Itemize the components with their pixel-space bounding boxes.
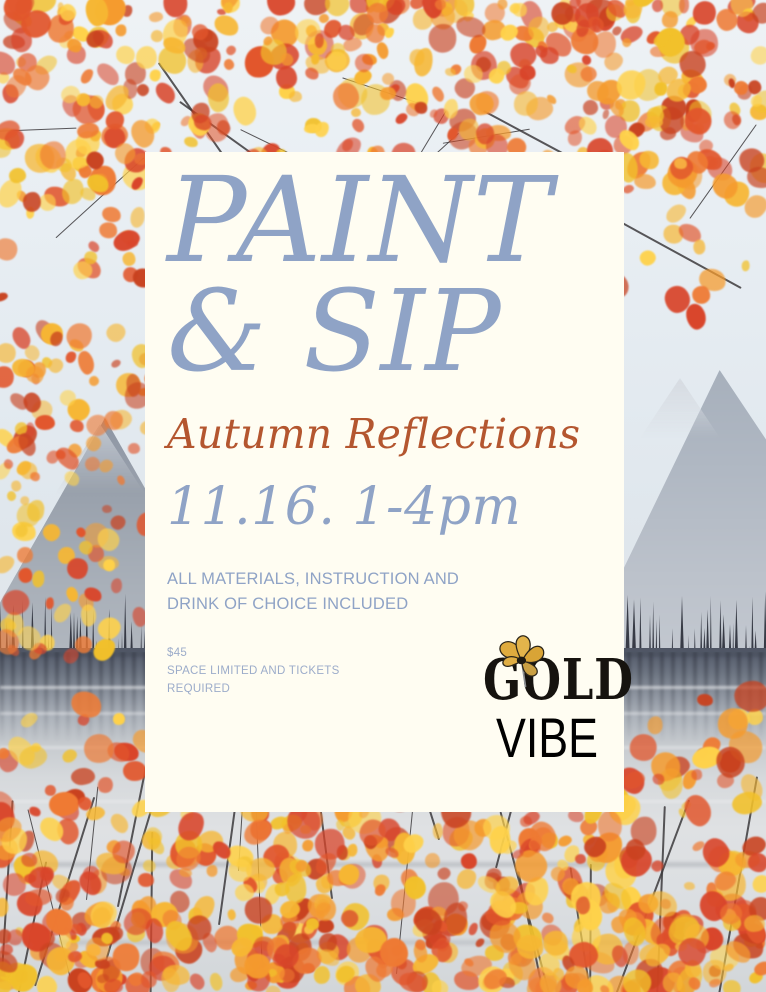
painted-leaf bbox=[205, 864, 218, 878]
headline-line-2: & SIP bbox=[167, 275, 606, 384]
painted-leaf bbox=[79, 66, 97, 85]
painted-leaf bbox=[110, 358, 123, 370]
painted-leaf bbox=[76, 349, 97, 376]
painted-leaf bbox=[696, 693, 714, 708]
painted-leaf bbox=[104, 978, 124, 992]
painted-leaf bbox=[275, 66, 297, 90]
logo-word-top-row: GOLD bbox=[467, 652, 627, 708]
painted-leaf bbox=[679, 0, 691, 14]
painted-leaf bbox=[208, 972, 224, 992]
painted-leaf bbox=[0, 235, 21, 265]
painted-leaf bbox=[453, 865, 480, 893]
painted-leaf bbox=[476, 123, 494, 144]
painted-leaf bbox=[24, 888, 53, 908]
painted-leaf bbox=[375, 41, 390, 60]
painted-leaf bbox=[84, 455, 101, 472]
painted-leaf bbox=[107, 810, 132, 836]
painted-leaf bbox=[435, 866, 452, 883]
painted-leaf bbox=[122, 251, 136, 266]
painted-leaf bbox=[141, 857, 158, 874]
painted-leaf bbox=[663, 201, 689, 226]
painted-leaf bbox=[68, 687, 107, 723]
painted-leaf bbox=[683, 881, 694, 890]
painted-leaf bbox=[81, 731, 116, 766]
painted-leaf bbox=[35, 415, 55, 431]
painted-leaf bbox=[474, 936, 487, 948]
includes-line-1: ALL MATERIALS, INSTRUCTION AND bbox=[167, 567, 606, 593]
painted-leaf bbox=[114, 24, 127, 38]
painted-leaf bbox=[97, 457, 115, 474]
painted-leaf bbox=[425, 853, 440, 868]
painted-leaf bbox=[187, 971, 207, 992]
painted-leaf bbox=[335, 819, 344, 831]
painted-leaf bbox=[88, 375, 100, 388]
painted-leaf bbox=[18, 710, 40, 730]
painted-leaf bbox=[148, 67, 162, 82]
painted-leaf bbox=[96, 776, 114, 795]
painted-leaf bbox=[68, 418, 85, 434]
painted-leaf bbox=[81, 604, 97, 626]
painted-leaf bbox=[0, 588, 31, 617]
painted-leaf bbox=[681, 791, 716, 830]
painted-leaf bbox=[41, 521, 63, 543]
painted-leaf bbox=[110, 578, 123, 595]
painted-leaf bbox=[231, 94, 259, 128]
painted-leaf bbox=[31, 570, 45, 588]
content-card: PAINT & SIP Autumn Reflections 11.16. 1-… bbox=[145, 152, 624, 812]
painted-leaf bbox=[122, 760, 147, 782]
painted-leaf bbox=[0, 552, 17, 576]
painted-leaf bbox=[127, 240, 138, 247]
painted-leaf bbox=[305, 917, 319, 930]
poster-canvas: PAINT & SIP Autumn Reflections 11.16. 1-… bbox=[0, 0, 766, 992]
painted-leaf bbox=[137, 872, 155, 888]
painted-leaf bbox=[222, 58, 235, 71]
painted-leaf bbox=[733, 680, 766, 712]
event-subtitle: Autumn Reflections bbox=[167, 414, 606, 455]
painted-leaf bbox=[692, 286, 711, 305]
painted-leaf bbox=[747, 42, 766, 68]
painted-leaf bbox=[289, 90, 302, 101]
poppy-flower-icon bbox=[493, 632, 551, 690]
painted-leaf bbox=[350, 117, 367, 135]
brand-logo: GOLD VIBE bbox=[467, 652, 627, 766]
painted-leaf bbox=[70, 767, 95, 786]
painted-leaf bbox=[429, 84, 446, 103]
painted-leaf bbox=[83, 433, 104, 454]
painted-leaf bbox=[638, 249, 658, 268]
painted-leaf bbox=[350, 108, 360, 117]
painted-leaf bbox=[739, 148, 764, 172]
painted-leaf bbox=[574, 854, 585, 865]
painted-leaf bbox=[113, 712, 127, 726]
painted-leaf bbox=[134, 45, 158, 70]
event-datetime: 11.16. 1-4pm bbox=[167, 481, 606, 533]
painted-leaf bbox=[582, 99, 598, 115]
painted-leaf bbox=[227, 909, 236, 921]
painted-leaf bbox=[45, 597, 54, 610]
painted-leaf bbox=[127, 442, 140, 454]
painted-leaf bbox=[116, 474, 126, 486]
headline-line-1: PAINT bbox=[167, 152, 606, 275]
painted-leaf bbox=[62, 469, 83, 490]
painted-leaf bbox=[693, 240, 706, 255]
painted-leaf bbox=[0, 897, 10, 918]
painted-leaf bbox=[750, 872, 766, 896]
painted-leaf bbox=[101, 204, 124, 224]
painted-leaf bbox=[15, 546, 33, 565]
logo-word-bottom: VIBE bbox=[483, 710, 611, 766]
painted-leaf bbox=[621, 38, 632, 49]
painted-leaf bbox=[267, 0, 296, 15]
painted-leaf bbox=[0, 291, 9, 303]
painted-leaf bbox=[60, 747, 79, 764]
painted-leaf bbox=[433, 823, 443, 839]
painted-leaf bbox=[21, 191, 42, 213]
painted-leaf bbox=[460, 853, 477, 870]
painted-leaf bbox=[519, 66, 535, 81]
includes-text: ALL MATERIALS, INSTRUCTION AND DRINK OF … bbox=[167, 567, 606, 618]
painted-leaf bbox=[312, 965, 330, 985]
painted-leaf bbox=[29, 471, 42, 484]
painted-leaf bbox=[300, 837, 316, 853]
painted-leaf bbox=[720, 108, 744, 133]
painted-leaf bbox=[8, 167, 27, 184]
painted-leaf bbox=[467, 921, 480, 936]
painted-leaf bbox=[497, 0, 507, 10]
painted-leaf bbox=[541, 910, 556, 925]
painted-leaf bbox=[19, 567, 33, 582]
includes-line-2: DRINK OF CHOICE INCLUDED bbox=[167, 592, 606, 618]
painted-leaf bbox=[6, 490, 17, 502]
painted-leaf bbox=[149, 11, 165, 23]
page-title: PAINT & SIP bbox=[167, 152, 606, 384]
painted-leaf bbox=[102, 505, 113, 514]
painted-leaf bbox=[149, 28, 164, 43]
painted-leaf bbox=[646, 716, 662, 735]
painted-leaf bbox=[224, 44, 237, 57]
painted-leaf bbox=[95, 613, 126, 643]
painted-leaf bbox=[741, 260, 750, 272]
